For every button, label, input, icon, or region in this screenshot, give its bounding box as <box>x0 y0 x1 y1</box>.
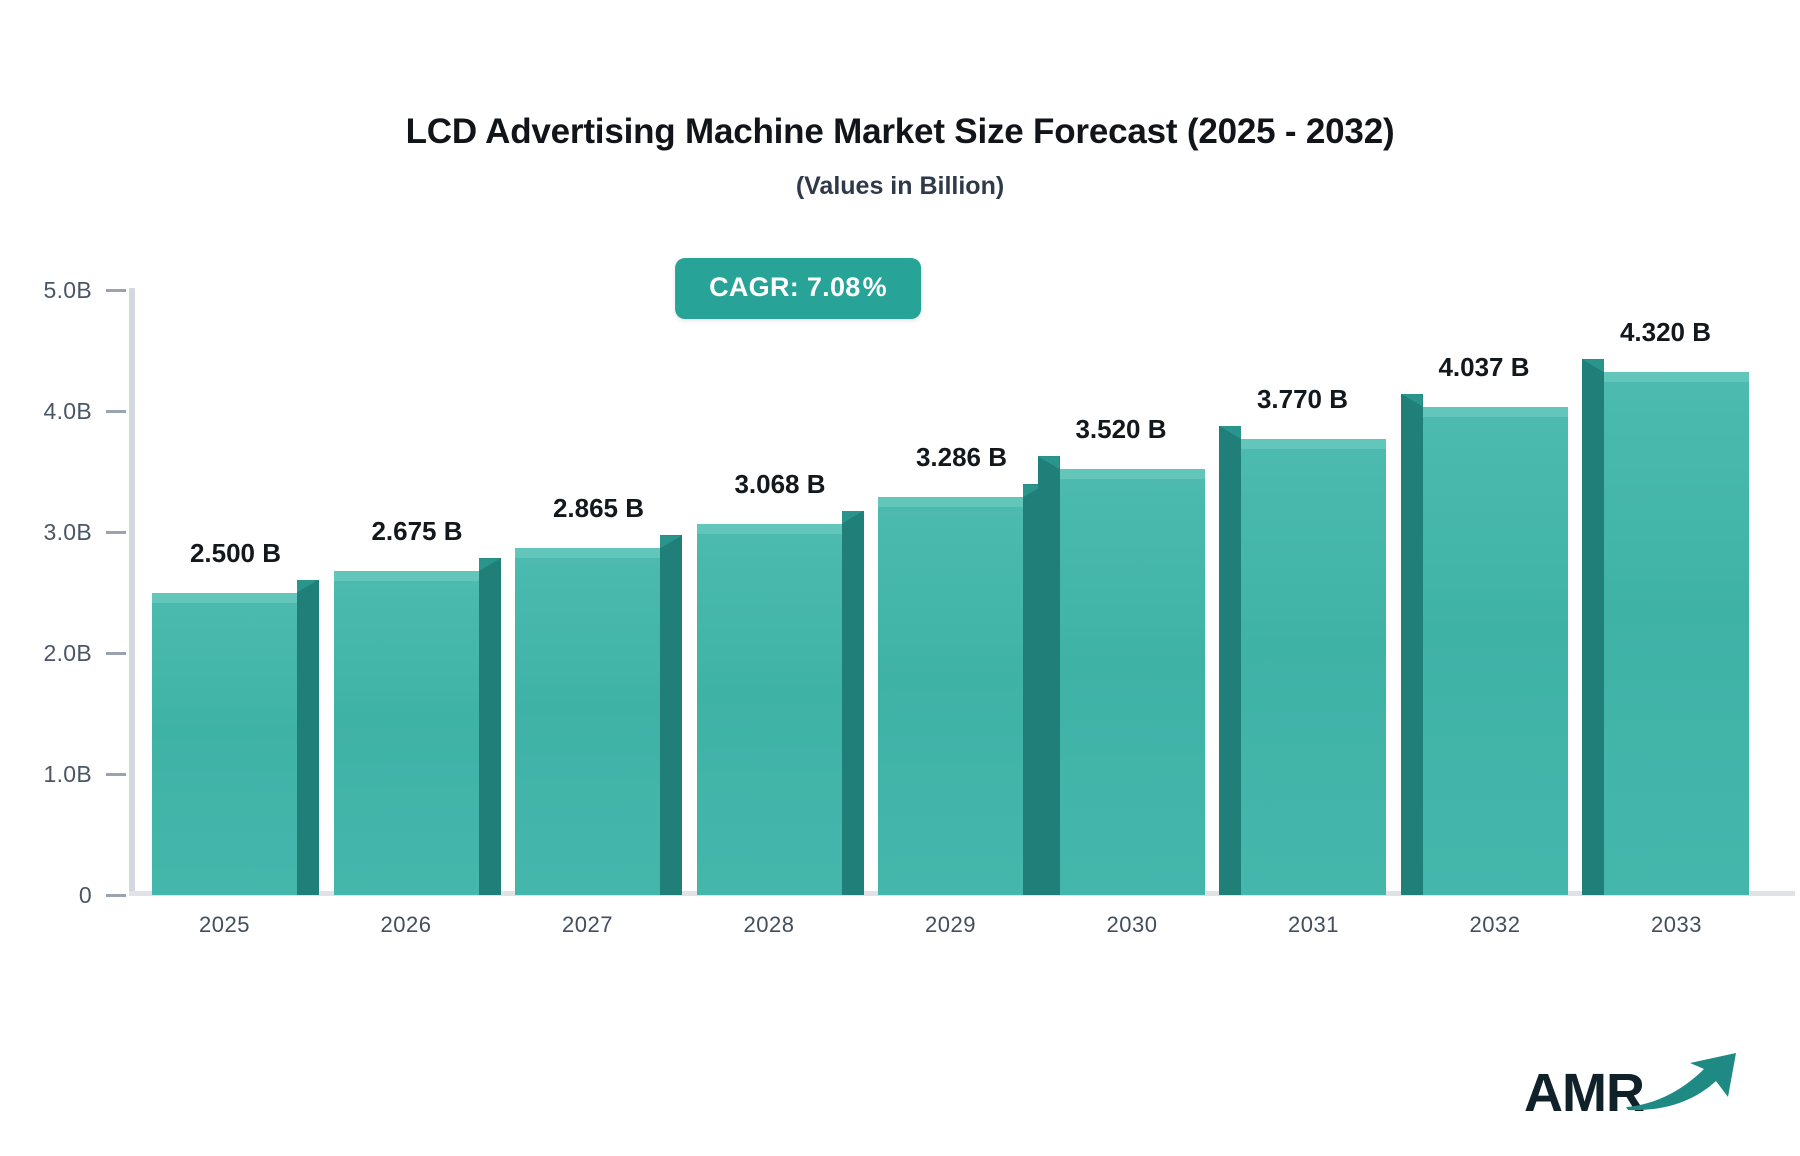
bar-top-edge <box>1604 372 1749 382</box>
bar-side-face <box>660 535 682 895</box>
bar-side-face <box>479 558 501 895</box>
bar[interactable] <box>515 548 660 895</box>
bar[interactable] <box>1060 469 1205 895</box>
bar-value-label: 3.068 B <box>650 469 910 500</box>
bar-value-label: 3.770 B <box>1173 384 1433 415</box>
y-axis-tick: 1.0B <box>0 761 126 787</box>
y-axis-tick-label: 1.0B <box>43 761 92 788</box>
bar-side-face <box>1219 426 1241 895</box>
y-axis-tick-label: 0 <box>79 882 92 909</box>
y-axis-tick-label: 4.0B <box>43 398 92 425</box>
bar-value-label: 4.320 B <box>1536 317 1796 348</box>
x-axis-label: 2033 <box>1557 912 1797 938</box>
bar-top-edge <box>152 593 297 603</box>
chart-canvas: LCD Advertising Machine Market Size Fore… <box>0 0 1800 1156</box>
growth-arrow-icon <box>1624 1051 1742 1116</box>
bar[interactable] <box>697 524 842 895</box>
y-axis-tick: 2.0B <box>0 640 126 666</box>
bar-front-face <box>1060 469 1205 895</box>
bar-top-edge <box>1241 439 1386 449</box>
amr-logo: AMR <box>1524 1050 1742 1120</box>
plot-area: 01.0B2.0B3.0B4.0B5.0B 2.500 B2.675 B2.86… <box>0 0 1800 1156</box>
y-axis-tick-mark <box>106 410 126 413</box>
bar-side-face <box>297 580 319 896</box>
bar-side-face <box>1401 394 1423 895</box>
bar-top-edge <box>334 571 479 581</box>
bar-top-edge <box>1423 407 1568 417</box>
bar-side-face <box>1038 456 1060 895</box>
bar-front-face <box>878 497 1023 895</box>
bar-top-edge <box>878 497 1023 507</box>
y-axis-tick: 0 <box>0 882 126 908</box>
y-axis-tick-mark <box>106 289 126 292</box>
bar-front-face <box>1604 372 1749 895</box>
y-axis-tick-label: 2.0B <box>43 640 92 667</box>
bar-value-label: 3.520 B <box>991 414 1251 445</box>
bar-side-face <box>842 511 864 895</box>
bar-side-face <box>1582 359 1604 895</box>
y-axis-tick-mark <box>106 773 126 776</box>
bar[interactable] <box>334 571 479 895</box>
bar-front-face <box>515 548 660 895</box>
y-axis-tick-mark <box>106 531 126 534</box>
y-axis-tick: 5.0B <box>0 277 126 303</box>
y-axis-tick-mark <box>106 652 126 655</box>
y-axis-tick-label: 3.0B <box>43 519 92 546</box>
bar-front-face <box>334 571 479 895</box>
y-axis-tick-label: 5.0B <box>43 277 92 304</box>
y-axis-tick-mark <box>106 894 126 897</box>
bar-top-edge <box>1060 469 1205 479</box>
y-axis-line <box>129 288 135 895</box>
bar-front-face <box>1423 407 1568 895</box>
bar-top-edge <box>515 548 660 558</box>
bar-front-face <box>1241 439 1386 895</box>
bar[interactable] <box>152 593 297 896</box>
bar-value-label: 4.037 B <box>1354 352 1614 383</box>
bar-top-edge <box>697 524 842 534</box>
bar-front-face <box>152 593 297 896</box>
bar-front-face <box>697 524 842 895</box>
bar[interactable] <box>1423 407 1568 895</box>
bar[interactable] <box>1241 439 1386 895</box>
bar[interactable] <box>1604 372 1749 895</box>
y-axis-tick: 4.0B <box>0 398 126 424</box>
bar[interactable] <box>878 497 1023 895</box>
